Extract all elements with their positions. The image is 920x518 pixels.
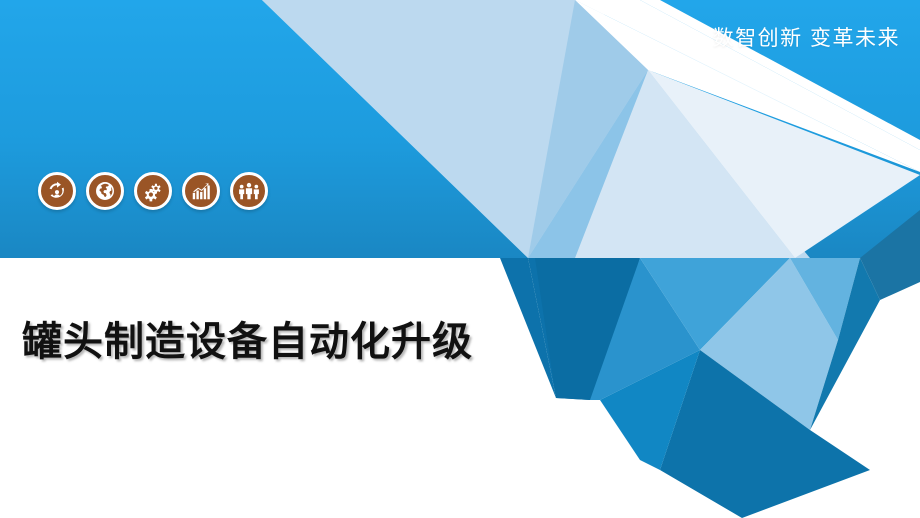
slide-tagline: 数智创新 变革未来 [713, 28, 900, 49]
refresh-cycle-icon[interactable] [38, 172, 76, 210]
people-group-glyph [238, 180, 260, 202]
globe-icon[interactable] [86, 172, 124, 210]
refresh-cycle-glyph [46, 180, 68, 202]
globe-glyph [94, 180, 116, 202]
presentation-slide: 数智创新 变革未来 [0, 0, 920, 518]
gears-glyph [142, 180, 164, 202]
bar-chart-growth-icon[interactable] [182, 172, 220, 210]
facet-steel-right-strip [860, 210, 920, 258]
people-group-icon[interactable] [230, 172, 268, 210]
feature-icon-row [38, 172, 268, 210]
low-poly-decoration [0, 0, 920, 518]
gears-icon[interactable] [134, 172, 172, 210]
page-title: 罐头制造设备自动化升级 [22, 320, 473, 364]
bar-chart-growth-glyph [190, 180, 212, 202]
